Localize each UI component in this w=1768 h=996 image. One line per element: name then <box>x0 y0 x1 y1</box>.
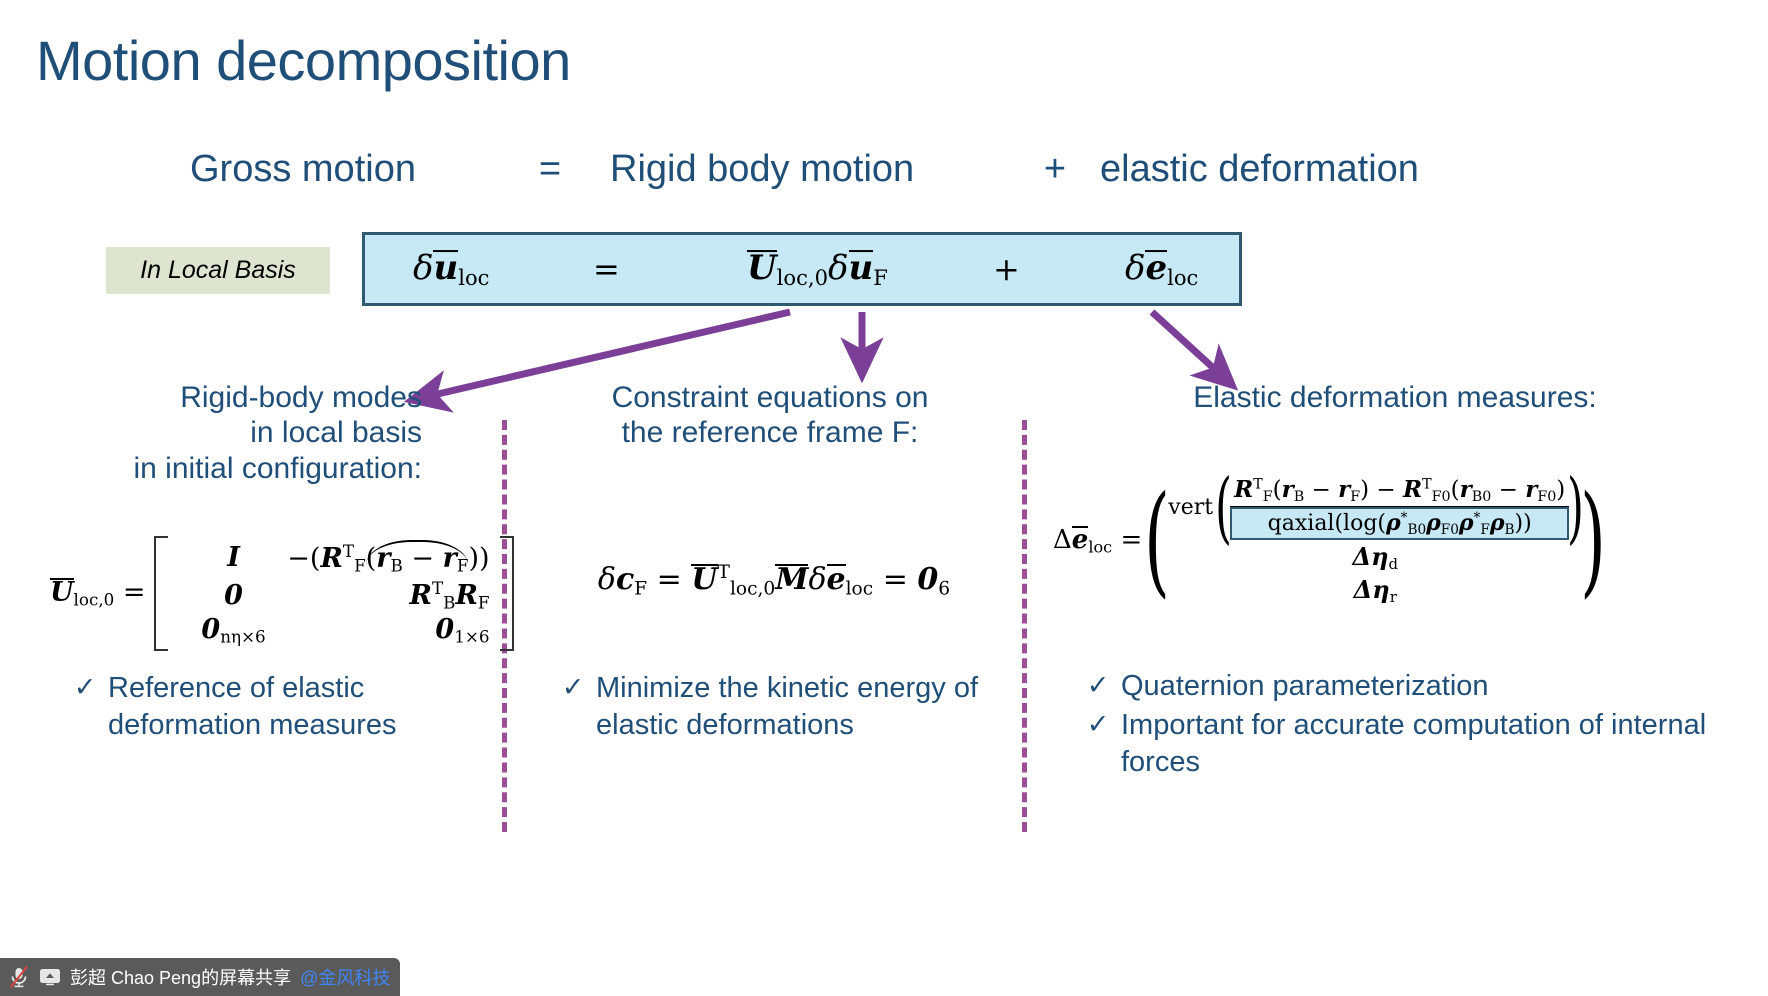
list-item: ✓ Minimize the kinetic energy of elastic… <box>550 670 1000 744</box>
main-equation-box: δuloc = Uloc,0δuF + δeloc <box>362 232 1242 306</box>
check-icon: ✓ <box>1075 668 1121 703</box>
minus-open-paren: −( <box>287 543 320 574</box>
U-bar-symbol: U <box>747 250 777 284</box>
big-delta: Δ <box>1053 525 1072 555</box>
RB-symbol: R <box>410 580 432 611</box>
list-item: ✓ Quaternion parameterization <box>1075 668 1715 705</box>
equals-2: = <box>883 562 908 597</box>
RB-transpose: T <box>432 578 443 598</box>
matrix-lhs: Uloc,0 = <box>50 577 146 610</box>
list-item: ✓ Important for accurate computation of … <box>1075 707 1715 781</box>
presentation-slide: Motion decomposition Gross motion=Rigid … <box>0 0 1768 996</box>
U-bar-mid: U <box>691 564 717 595</box>
M-bar-symbol: M <box>775 564 808 595</box>
mic-muted-icon[interactable] <box>8 965 30 989</box>
rho-3: ρ <box>1459 510 1474 536</box>
RF-symbol: R <box>455 580 477 611</box>
qaxial-close: )) <box>1514 511 1531 536</box>
e-bar-mid: e <box>827 564 846 595</box>
c-symbol: c <box>616 562 634 597</box>
column-3-heading-line-1: Elastic deformation measures: <box>1045 380 1745 415</box>
presenter-label: 彭超 Chao Peng的屏幕共享 <box>70 964 291 990</box>
headline-gross-motion: Gross motion <box>190 148 490 191</box>
RF-right: R <box>1234 476 1253 503</box>
RF-sub-right: F <box>1263 489 1273 505</box>
rB0-right: r <box>1460 476 1472 503</box>
matrix-equals: = <box>123 577 146 608</box>
RB-subscript: B <box>443 592 455 612</box>
rho-2-sub: F0 <box>1441 522 1459 538</box>
rho-1: ρ <box>1386 510 1401 536</box>
RF0-sub: F0 <box>1432 489 1451 505</box>
rB-sub-right: B <box>1294 489 1304 505</box>
headline-rigid-body-motion: Rigid body motion <box>610 148 1010 191</box>
rho-4-sub: B <box>1504 522 1514 538</box>
u-bar-symbol-2: u <box>849 250 874 284</box>
qaxial-log-prefix: qaxial(log( <box>1268 511 1386 536</box>
vert-function-label: vert <box>1168 495 1213 520</box>
e-subscript-mid: loc <box>846 578 874 599</box>
U-subscript-mid: loc,0 <box>730 578 775 599</box>
RF0-right: R <box>1403 476 1422 503</box>
check-icon: ✓ <box>550 670 596 705</box>
rho-2: ρ <box>1426 510 1441 536</box>
delta-symbol: δ <box>413 248 433 288</box>
e-subscript-right: loc <box>1088 538 1112 557</box>
delta-symbol-2: δ <box>828 248 848 288</box>
eta-d-sub: d <box>1389 555 1399 573</box>
eta-r-sub: r <box>1390 588 1397 606</box>
e-bar-right: e <box>1072 526 1089 553</box>
rF-subscript: F <box>457 556 469 576</box>
equals-right: = <box>1120 525 1142 555</box>
loc-subscript: loc <box>458 265 489 290</box>
main-eq-plus: + <box>993 250 1020 288</box>
outer-parentheses: ( vert ( RTF(rB − rF) − RTF0(rB0 − rF0) … <box>1148 476 1602 606</box>
screen-share-status-bar[interactable]: 彭超 Chao Peng的屏幕共享 @金风科技 <box>0 958 400 996</box>
minus-2-right: − <box>1376 477 1395 503</box>
column-elastic-measures: Elastic deformation measures: Δeloc = ( … <box>1045 380 1745 415</box>
inner-paren-right: ) <box>1572 476 1579 540</box>
outer-paren-right: ) <box>1588 476 1598 606</box>
eta-r: Δη <box>1354 575 1390 604</box>
column-divider-2 <box>1022 420 1027 832</box>
page-title: Motion decomposition <box>36 28 571 93</box>
column-1-bullets: ✓ Reference of elastic deformation measu… <box>62 670 482 746</box>
column-2-heading-line-2: the reference frame F: <box>540 415 1000 450</box>
vector-column: vert ( RTF(rB − rF) − RTF0(rB0 − rF0) qa… <box>1166 476 1584 606</box>
zero-symbol-r3c2: 0 <box>435 614 454 645</box>
rF-sub-right: F <box>1350 489 1360 505</box>
check-icon: ✓ <box>62 670 108 705</box>
rF0-sub: F0 <box>1537 489 1556 505</box>
delta-e-loc-lhs: Δeloc = <box>1053 525 1142 557</box>
qaxial-highlight-box: qaxial(log(ρ*B0ρF0ρ*FρB)) <box>1230 507 1569 540</box>
matrix-brackets: I −(RTF(rB − rF)) 0 RTBRF 0nη×6 01×6 <box>154 532 514 655</box>
outer-paren-left: ( <box>1152 476 1162 606</box>
minus-3-right: − <box>1499 477 1518 503</box>
zero-vector: 0 <box>917 562 938 597</box>
R-symbol: R <box>320 543 342 574</box>
eta-r-row: Δηr <box>1354 573 1397 606</box>
minus-1-right: − <box>1312 477 1331 503</box>
column-2-heading: Constraint equations on the reference fr… <box>540 380 1000 451</box>
rho-4: ρ <box>1490 510 1505 536</box>
RF0-transpose: T <box>1422 476 1432 492</box>
main-eq-elastic-term: δeloc <box>1125 248 1198 290</box>
column-rigid-body-modes: Rigid-body modes in local basis in initi… <box>40 380 490 486</box>
zero-subscript: 6 <box>938 578 950 599</box>
c-subscript: F <box>634 578 647 599</box>
delta-e-mid: δ <box>808 562 826 597</box>
column-2-bullets: ✓ Minimize the kinetic energy of elastic… <box>550 670 1000 746</box>
main-eq-equals: = <box>593 250 620 288</box>
F-subscript: F <box>873 265 888 290</box>
screen-share-icon[interactable] <box>38 967 62 987</box>
bullet-text: Important for accurate computation of in… <box>1121 707 1715 781</box>
matrix-cell-r1c1: I <box>227 542 240 573</box>
U-transpose-mid: T <box>718 562 730 583</box>
column-1-heading-line-3: in initial configuration: <box>40 451 422 486</box>
rB0-sub: B0 <box>1472 489 1492 505</box>
column-2-heading-line-1: Constraint equations on <box>540 380 1000 415</box>
R-transpose: T <box>343 541 354 561</box>
main-eq-rigid-term: Uloc,0δuF <box>747 248 888 290</box>
RF-transpose-right: T <box>1253 476 1263 492</box>
column-3-equation: Δeloc = ( vert ( RTF(rB − rF) − RTF0(rB0… <box>1053 476 1602 606</box>
bullet-text: Minimize the kinetic energy of elastic d… <box>596 670 1000 744</box>
list-item: ✓ Reference of elastic deformation measu… <box>62 670 482 744</box>
u-bar-symbol: u <box>433 250 458 284</box>
R-F-subscript: F <box>354 556 366 576</box>
rho-1-sub: B0 <box>1407 522 1426 538</box>
rF-symbol: r <box>443 543 457 574</box>
U-subscript: loc,0 <box>777 265 828 290</box>
column-3-heading: Elastic deformation measures: <box>1045 380 1745 415</box>
rB-symbol: r <box>376 543 390 574</box>
headline-elastic-deformation: elastic deformation <box>1100 148 1419 191</box>
close-parens: )) <box>468 543 489 574</box>
matrix-cell-r2c2: RTBRF <box>410 578 490 613</box>
zero-symbol-r3c1: 0 <box>201 614 220 645</box>
inner-parentheses: ( RTF(rB − rF) − RTF0(rB0 − rF0) qaxial(… <box>1217 476 1582 540</box>
fraction-block: RTF(rB − rF) − RTF0(rB0 − rF0) qaxial(lo… <box>1230 476 1569 540</box>
column-constraint-equations: Constraint equations on the reference fr… <box>540 380 1000 451</box>
eta-d-row: Δηd <box>1352 540 1398 573</box>
rF0-right: r <box>1525 476 1537 503</box>
fraction-numerator: RTF(rB − rF) − RTF0(rB0 − rF0) <box>1230 476 1569 506</box>
zero-r3c2-subscript: 1×6 <box>454 627 489 647</box>
RF-subscript: F <box>478 592 490 612</box>
matrix-cell-r1c2: −(RTF(rB − rF)) <box>287 540 489 576</box>
column-1-matrix-equation: Uloc,0 = I −(RTF(rB − rF)) 0 RTBRF 0nη×6 <box>50 532 514 655</box>
column-2-equation: δcF = UTloc,0Mδeloc = 06 <box>554 562 994 599</box>
tilde-group: (rB − rF <box>366 540 469 576</box>
headline-equals: = <box>490 148 610 191</box>
local-basis-tag: In Local Basis <box>106 247 330 294</box>
matrix-cell-r3c1: 0nη×6 <box>201 614 265 647</box>
headline-plus: + <box>1010 148 1100 191</box>
column-1-heading-line-1: Rigid-body modes <box>40 380 422 415</box>
U-bar-subscript: loc,0 <box>74 590 115 610</box>
rB-subscript: B <box>390 556 402 576</box>
headline-row: Gross motion=Rigid body motion+elastic d… <box>190 148 1690 191</box>
vert-row: vert ( RTF(rB − rF) − RTF0(rB0 − rF0) qa… <box>1168 476 1582 540</box>
column-1-heading-line-2: in local basis <box>40 415 422 450</box>
matrix-cell-r2c1: 0 <box>224 580 243 611</box>
delta-symbol-3: δ <box>1125 248 1145 288</box>
organization-label: @金风科技 <box>300 964 390 990</box>
check-icon: ✓ <box>1075 707 1121 742</box>
e-subscript: loc <box>1167 265 1198 290</box>
U-bar-label: U <box>50 578 74 606</box>
column-1-heading: Rigid-body modes in local basis in initi… <box>40 380 490 486</box>
eta-d: Δη <box>1352 542 1388 571</box>
delta-c: δ <box>598 562 616 597</box>
rho-3-sub: F <box>1480 522 1489 538</box>
equals-1: = <box>657 562 682 597</box>
matrix-grid: I −(RTF(rB − rF)) 0 RTBRF 0nη×6 01×6 <box>168 536 500 651</box>
main-eq-lhs: δuloc <box>413 248 489 290</box>
rB-right: r <box>1282 476 1294 503</box>
bullet-text: Reference of elastic deformation measure… <box>108 670 482 744</box>
e-bar-symbol: e <box>1145 250 1167 284</box>
zero-r3c1-subscript: nη×6 <box>220 627 265 647</box>
matrix-cell-r3c2: 01×6 <box>435 614 489 647</box>
column-3-bullets: ✓ Quaternion parameterization ✓ Importan… <box>1075 668 1715 783</box>
arrow-to-elastic-measures <box>1152 312 1232 385</box>
bullet-text: Quaternion parameterization <box>1121 668 1715 705</box>
rF-right: r <box>1338 476 1350 503</box>
inner-paren-left: ( <box>1220 476 1227 540</box>
minus-inner: − <box>411 543 434 574</box>
